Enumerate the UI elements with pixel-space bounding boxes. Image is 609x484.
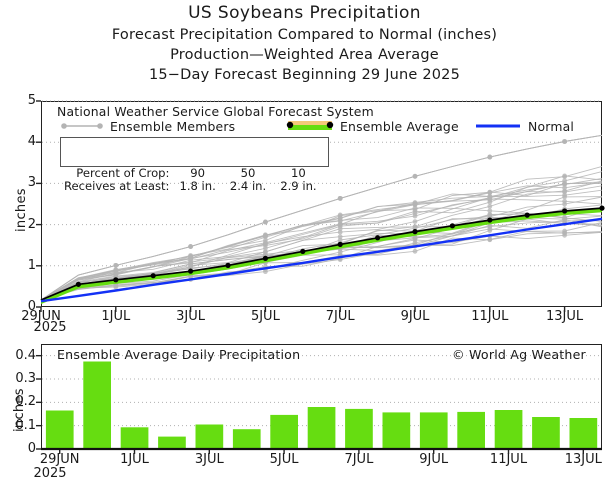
bottom-chart-canvas [0,0,609,484]
bar-1 [83,362,111,450]
bar-6 [270,415,298,449]
copyright-label: © World Ag Weather [452,347,586,362]
bar-4 [196,425,224,450]
bar-0 [46,411,74,450]
bar-11 [457,412,485,449]
bar-2 [121,427,149,449]
bar-13 [532,417,560,449]
bar-9 [383,412,411,449]
bottom-chart-title: Ensemble Average Daily Precipitation [57,347,300,362]
bar-3 [158,437,186,449]
bar-5 [233,429,261,449]
bar-7 [308,407,336,449]
bar-10 [420,412,448,449]
bar-14 [570,418,598,449]
bar-8 [345,409,373,449]
bar-12 [495,410,523,449]
